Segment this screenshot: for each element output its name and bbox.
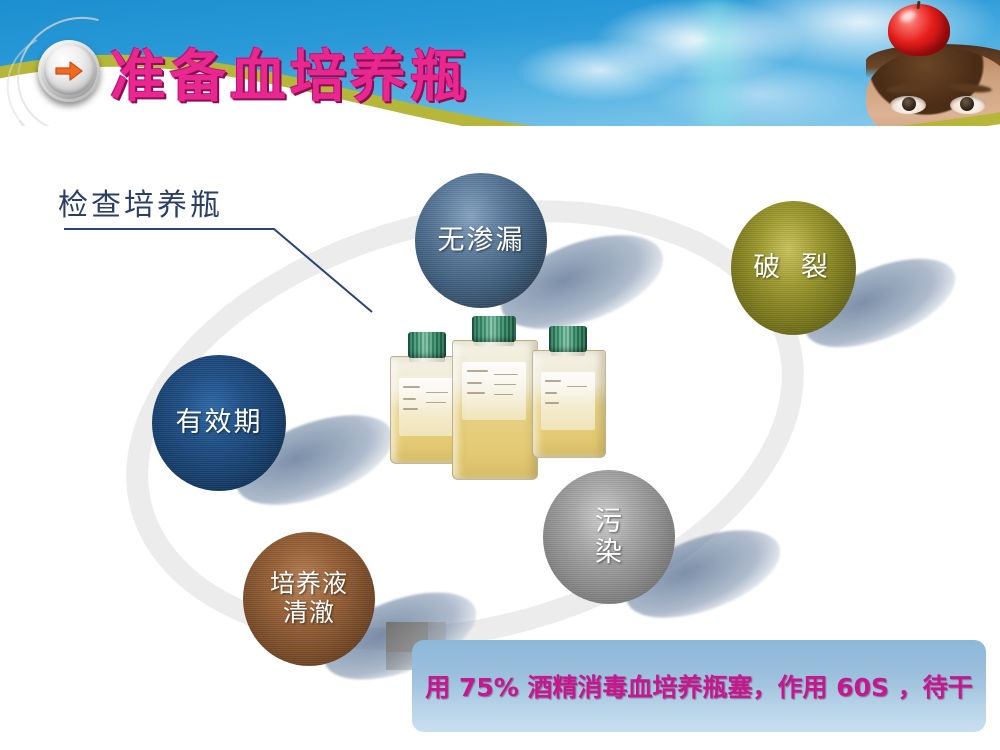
label-text-line: [426, 402, 446, 403]
sphere-label-line1: 污: [595, 506, 623, 537]
bottle-label: [399, 378, 455, 436]
label-text-line: [403, 386, 420, 388]
sphere-expiry[interactable]: 有效期: [152, 355, 286, 491]
bottle-label: [462, 362, 526, 420]
sphere-no-leak[interactable]: 无渗漏: [415, 173, 547, 308]
slide-header: 准备血培养瓶: [0, 0, 1000, 128]
label-text-line: [494, 374, 518, 375]
callout-label-check-bottle: 检查培养瓶: [58, 180, 223, 224]
label-text-line: [403, 398, 415, 400]
sphere-label: 无渗漏: [438, 225, 525, 256]
culture-bottle: [532, 326, 604, 456]
iris-right: [960, 97, 974, 111]
child-with-apple-photo: [860, 0, 1000, 128]
bottle-cap-green: [408, 332, 446, 358]
next-arrow-button[interactable]: [38, 40, 100, 102]
label-text-line: [426, 392, 448, 393]
sphere-contamination[interactable]: 污 染: [543, 470, 675, 604]
sphere-rupture[interactable]: 破 裂: [731, 201, 856, 335]
sphere-label: 污 染: [595, 506, 623, 568]
label-text-line: [545, 402, 559, 404]
header-divider: [0, 126, 1000, 128]
caption-box: 用 75% 酒精消毒血培养瓶塞，作用 60S ，待干: [412, 640, 986, 732]
culture-bottle: [452, 316, 536, 478]
bottle-cap-green: [472, 316, 516, 342]
arrow-right-icon: [54, 59, 84, 83]
sphere-medium-clear[interactable]: 培养液 清澈: [243, 532, 375, 666]
sphere-label: 培养液 清澈: [270, 570, 348, 628]
label-text-line: [467, 370, 487, 372]
label-text-line: [467, 392, 485, 394]
label-text-line: [494, 394, 513, 395]
sphere-label-line1: 培养液: [270, 569, 348, 598]
caption-text: 用 75% 酒精消毒血培养瓶塞，作用 60S ，待干: [425, 668, 972, 704]
label-text-line: [567, 386, 587, 387]
slide-canvas: 准备血培养瓶 检查培养瓶 无渗漏 破 裂 有效期 培养液 清澈 污 染: [0, 0, 1000, 750]
label-text-line: [467, 382, 482, 384]
iris-left: [902, 97, 916, 111]
page-title: 准备血培养瓶: [110, 32, 470, 113]
label-text-line: [403, 408, 418, 410]
rainbow-streak: [690, 0, 750, 128]
sphere-label-line2: 染: [595, 537, 623, 568]
label-text-line: [545, 392, 557, 394]
bottle-cap-green: [549, 326, 586, 352]
sphere-label: 有效期: [176, 407, 263, 438]
blood-culture-bottles-photo: [390, 310, 625, 485]
sphere-label-line2: 清澈: [283, 598, 335, 627]
label-text-line: [545, 380, 561, 382]
red-apple-icon: [888, 4, 950, 56]
sphere-label: 破 裂: [753, 252, 834, 283]
bottle-label: [541, 372, 596, 430]
label-text-line: [494, 384, 516, 385]
